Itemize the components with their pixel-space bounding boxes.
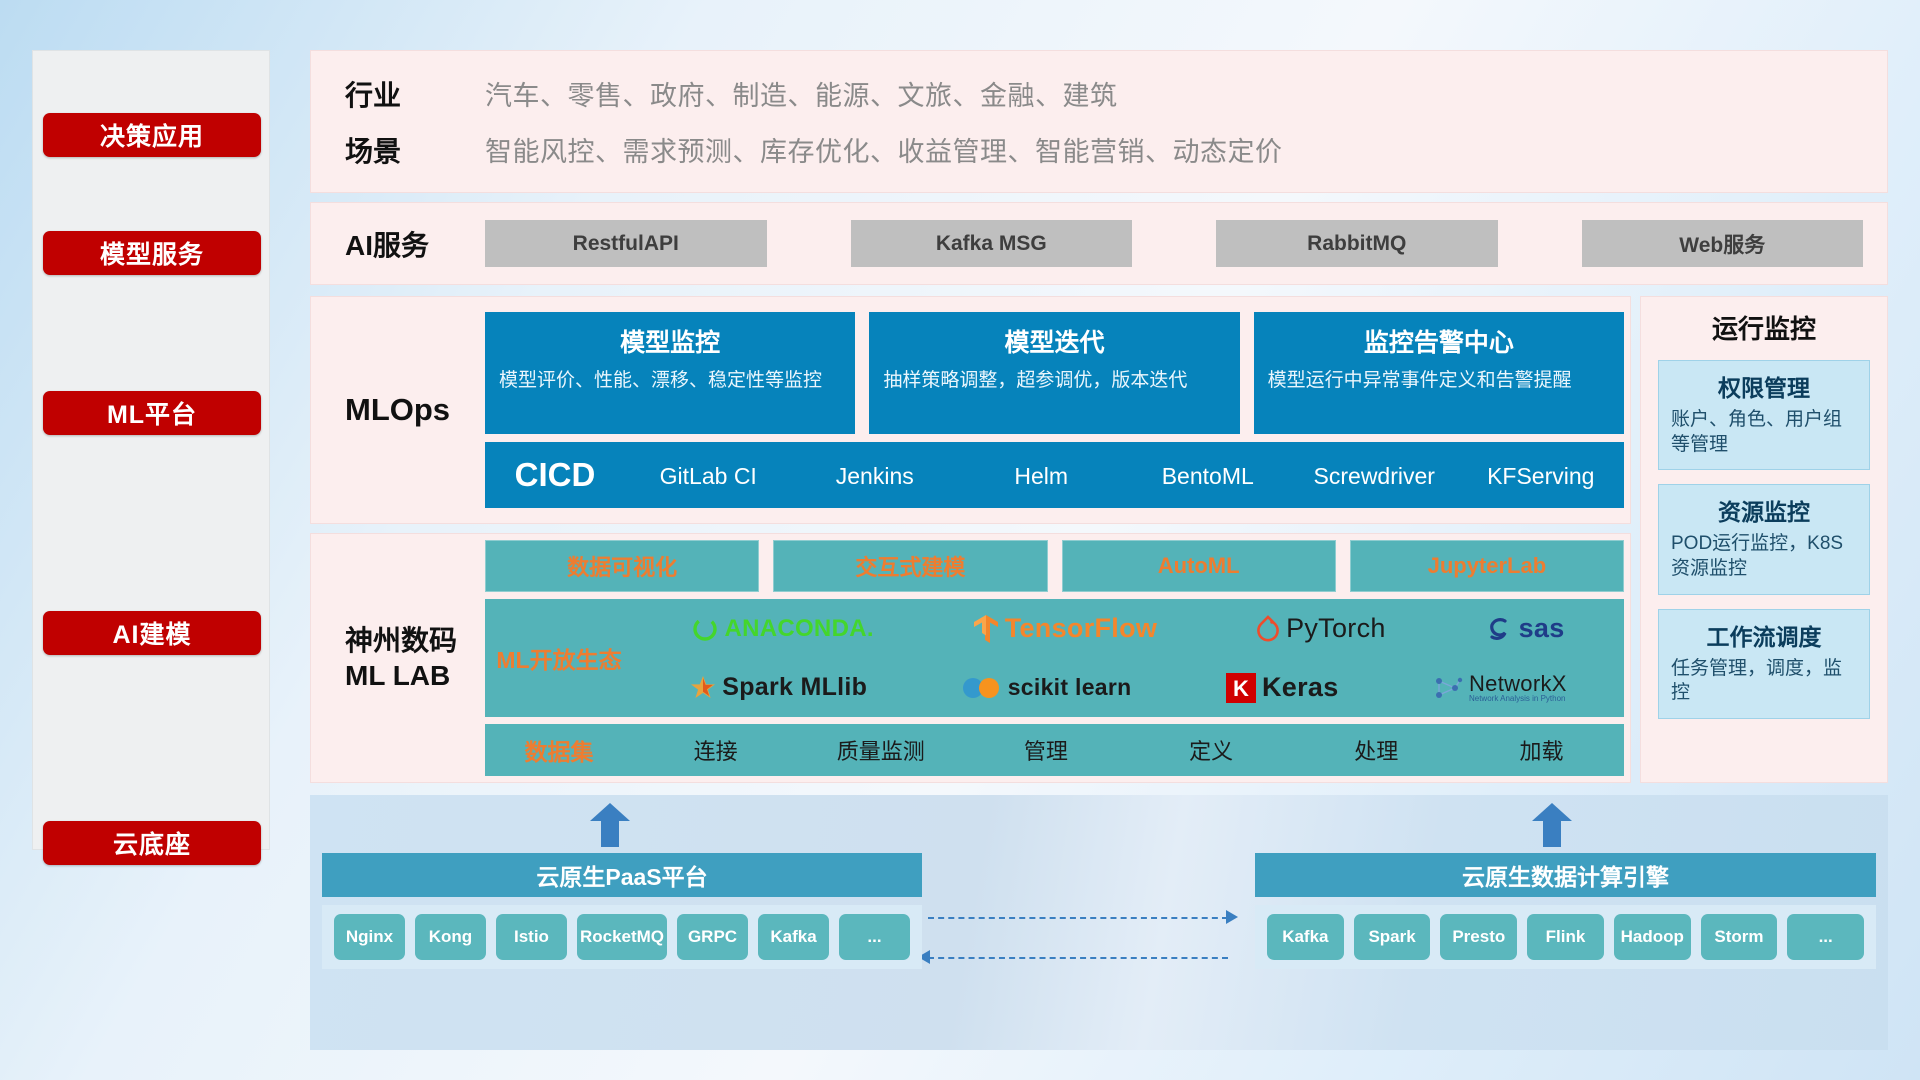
dataset-item-define[interactable]: 定义 [1129,734,1294,766]
dataset-item-manage[interactable]: 管理 [963,734,1128,766]
keras-label: Keras [1262,672,1339,703]
cicd-bar: CICD GitLab CI Jenkins Helm BentoML Scre… [485,442,1624,508]
anaconda-logo[interactable]: ANACONDA. [692,615,873,643]
chip-flink[interactable]: Flink [1527,914,1604,960]
svg-text:K: K [1233,676,1249,701]
scikit-learn-icon [962,675,1002,701]
chip-presto[interactable]: Presto [1440,914,1517,960]
chip-hadoop[interactable]: Hadoop [1614,914,1691,960]
mlops-label: MLOps [345,392,485,428]
ml-lab-content: 数据可视化 交互式建模 AutoML JupyterLab ML开放生态 [485,540,1630,776]
eco-logo-grid: ANACONDA. TensorFlow [633,599,1624,717]
sidebar-item-ai-modeling[interactable]: AI建模 [43,611,261,655]
sidebar-item-cloud-base[interactable]: 云底座 [43,821,261,865]
cloud-native-data-engine-bar[interactable]: 云原生数据计算引擎 [1255,853,1876,897]
eco-label: ML开放生态 [485,641,633,675]
card-desc: POD运行监控，K8S资源监控 [1671,532,1857,581]
card-desc: 任务管理，调度，监控 [1671,657,1857,706]
tool-interactive-modeling[interactable]: 交互式建模 [773,540,1047,592]
dashed-arrow-left [928,957,1228,959]
scenario-key: 场景 [345,130,485,170]
eco-logo-row-1: ANACONDA. TensorFlow [633,599,1624,658]
dashed-arrow-right-head [1226,910,1238,924]
chip-kafka[interactable]: Kafka [758,914,829,960]
dataset-bar: 数据集 连接 质量监测 管理 定义 处理 加载 [485,724,1624,776]
dashed-arrow-right [928,917,1228,919]
chip-kong[interactable]: Kong [415,914,486,960]
platform-label: 云原生数据计算引擎 [1462,858,1669,892]
runtime-monitoring-panel: 运行监控 权限管理 账户、角色、用户组等管理 资源监控 POD运行监控，K8S资… [1640,296,1888,783]
scenario-row: 场景 智能风控、需求预测、库存优化、收益管理、智能营销、动态定价 [345,122,1887,178]
cicd-item-list: GitLab CI Jenkins Helm BentoML Screwdriv… [625,463,1624,488]
platform-label: 云原生PaaS平台 [536,858,707,892]
dataset-item-quality-monitoring[interactable]: 质量监测 [798,734,963,766]
tensorflow-icon [973,614,999,644]
anaconda-icon [692,616,718,642]
architecture-diagram: 决策应用 模型服务 ML平台 AI建模 云底座 行业 汽车、零售、政府、制造、能… [0,0,1920,1080]
sidebar-item-label: 决策应用 [100,117,204,153]
card-title: 模型迭代 [883,323,1225,359]
networkx-icon [1433,675,1463,701]
chip-grpc[interactable]: GRPC [677,914,748,960]
dataset-item-connect[interactable]: 连接 [633,734,798,766]
chip-more-right[interactable]: ... [1787,914,1864,960]
pytorch-label: PyTorch [1286,613,1386,644]
spark-label: Spark MLlib [722,673,867,702]
eco-logo-row-2: Spark MLlib scikit learn [633,658,1624,717]
card-desc: 账户、角色、用户组等管理 [1671,408,1857,457]
sas-logo[interactable]: sas [1485,613,1565,644]
card-desc: 模型评价、性能、漂移、稳定性等监控 [499,368,841,393]
pytorch-logo[interactable]: PyTorch [1256,613,1386,644]
decision-application-band: 行业 汽车、零售、政府、制造、能源、文旅、金融、建筑 场景 智能风控、需求预测、… [310,50,1888,193]
card-title: 权限管理 [1671,369,1857,403]
industry-value: 汽车、零售、政府、制造、能源、文旅、金融、建筑 [485,74,1118,113]
networkx-logo[interactable]: NetworkX Network Analysis in Python [1433,673,1567,703]
monitoring-card-workflow[interactable]: 工作流调度 任务管理，调度，监控 [1658,609,1870,719]
card-desc: 模型运行中异常事件定义和告警提醒 [1268,368,1610,393]
card-desc: 抽样策略调整，超参调优，版本迭代 [883,368,1225,393]
ml-lab-band: 神州数码 ML LAB 数据可视化 交互式建模 AutoML JupyterLa… [310,533,1631,783]
sidebar-item-ml-platform[interactable]: ML平台 [43,391,261,435]
sidebar-item-decision-app[interactable]: 决策应用 [43,113,261,157]
service-chip-restfulapi[interactable]: RestfulAPI [485,220,767,267]
arrow-up-icon-left [590,803,630,847]
chip-nginx[interactable]: Nginx [334,914,405,960]
arrow-up-icon-right [1532,803,1572,847]
mlops-band: MLOps 模型监控 模型评价、性能、漂移、稳定性等监控 模型迭代 抽样策略调整… [310,296,1631,524]
mlops-card-alert-center[interactable]: 监控告警中心 模型运行中异常事件定义和告警提醒 [1254,312,1624,434]
monitoring-title: 运行监控 [1712,309,1816,346]
chip-storm[interactable]: Storm [1701,914,1778,960]
sidebar-item-label: 云底座 [113,825,191,861]
sidebar-item-model-service[interactable]: 模型服务 [43,231,261,275]
mlops-card-model-iteration[interactable]: 模型迭代 抽样策略调整，超参调优，版本迭代 [869,312,1239,434]
cloud-native-paas-bar[interactable]: 云原生PaaS平台 [322,853,922,897]
paas-chip-strip: Nginx Kong Istio RocketMQ GRPC Kafka ... [322,905,922,969]
scikit-learn-label: scikit learn [1008,674,1132,701]
monitoring-card-permission[interactable]: 权限管理 账户、角色、用户组等管理 [1658,360,1870,470]
data-engine-chip-strip: Kafka Spark Presto Flink Hadoop Storm ..… [1255,905,1876,969]
chip-rocketmq[interactable]: RocketMQ [577,914,667,960]
dataset-item-load[interactable]: 加载 [1459,734,1624,766]
card-title: 工作流调度 [1671,618,1857,652]
tool-jupyterlab[interactable]: JupyterLab [1350,540,1624,592]
spark-star-icon [690,675,716,701]
sidebar-item-label: AI建模 [112,615,191,651]
mlops-card-list: 模型监控 模型评价、性能、漂移、稳定性等监控 模型迭代 抽样策略调整，超参调优，… [485,312,1624,434]
dataset-title: 数据集 [485,733,633,767]
industry-key: 行业 [345,74,485,114]
anaconda-label: ANACONDA. [724,615,873,643]
ai-service-label: AI服务 [345,224,485,264]
industry-row: 行业 汽车、零售、政府、制造、能源、文旅、金融、建筑 [345,66,1887,122]
cicd-item-gitlab-ci[interactable]: GitLab CI [625,463,792,488]
card-title: 资源监控 [1671,493,1857,527]
cicd-item-helm[interactable]: Helm [958,463,1125,488]
card-title: 模型监控 [499,323,841,359]
sidebar-item-label: 模型服务 [100,235,204,271]
tensorflow-logo[interactable]: TensorFlow [973,613,1158,644]
scikit-learn-logo[interactable]: scikit learn [962,674,1132,701]
pytorch-icon [1256,615,1280,643]
scenario-value: 智能风控、需求预测、库存优化、收益管理、智能营销、动态定价 [485,130,1283,169]
keras-logo[interactable]: K Keras [1226,672,1339,703]
mlops-card-model-monitoring[interactable]: 模型监控 模型评价、性能、漂移、稳定性等监控 [485,312,855,434]
ml-lab-label: 神州数码 ML LAB [345,623,485,693]
card-title: 监控告警中心 [1268,323,1610,359]
chip-kafka-right[interactable]: Kafka [1267,914,1344,960]
dataset-item-list: 连接 质量监测 管理 定义 处理 加载 [633,734,1624,766]
service-chip-rabbitmq[interactable]: RabbitMQ [1216,220,1498,267]
tensorflow-label: TensorFlow [1005,613,1158,644]
ml-lab-label-line2: ML LAB [345,658,485,693]
layer-sidebar: 决策应用 模型服务 ML平台 AI建模 云底座 [32,50,270,850]
networkx-label: NetworkX [1469,673,1567,695]
ml-open-ecosystem: ML开放生态 ANACONDA. [485,599,1624,717]
sidebar-item-label: ML平台 [107,395,197,431]
mlops-content: 模型监控 模型评价、性能、漂移、稳定性等监控 模型迭代 抽样策略调整，超参调优，… [485,312,1630,508]
keras-icon: K [1226,673,1256,703]
service-chip-kafka-msg[interactable]: Kafka MSG [851,220,1133,267]
sas-label: sas [1519,613,1565,644]
sas-icon [1485,616,1513,642]
cicd-item-screwdriver[interactable]: Screwdriver [1291,463,1458,488]
chip-istio[interactable]: Istio [496,914,567,960]
networkx-sublabel: Network Analysis in Python [1469,695,1567,703]
ai-service-band: AI服务 RestfulAPI Kafka MSG RabbitMQ Web服务 [310,202,1888,285]
cicd-title: CICD [485,456,625,494]
ml-lab-label-line1: 神州数码 [345,623,485,658]
cicd-item-jenkins[interactable]: Jenkins [792,463,959,488]
cicd-item-kfserving[interactable]: KFServing [1458,463,1625,488]
tool-automl[interactable]: AutoML [1062,540,1336,592]
service-chip-web[interactable]: Web服务 [1582,220,1864,267]
tool-data-visualization[interactable]: 数据可视化 [485,540,759,592]
monitoring-card-resource[interactable]: 资源监控 POD运行监控，K8S资源监控 [1658,484,1870,594]
ai-service-chip-list: RestfulAPI Kafka MSG RabbitMQ Web服务 [485,220,1887,267]
chip-spark[interactable]: Spark [1354,914,1431,960]
cloud-base-section: 云原生PaaS平台 云原生数据计算引擎 Nginx Kong Istio Roc… [310,795,1888,1050]
chip-more-left[interactable]: ... [839,914,910,960]
ml-lab-tool-list: 数据可视化 交互式建模 AutoML JupyterLab [485,540,1624,592]
cicd-item-bentoml[interactable]: BentoML [1125,463,1292,488]
dataset-item-process[interactable]: 处理 [1294,734,1459,766]
spark-mllib-logo[interactable]: Spark MLlib [690,673,867,702]
